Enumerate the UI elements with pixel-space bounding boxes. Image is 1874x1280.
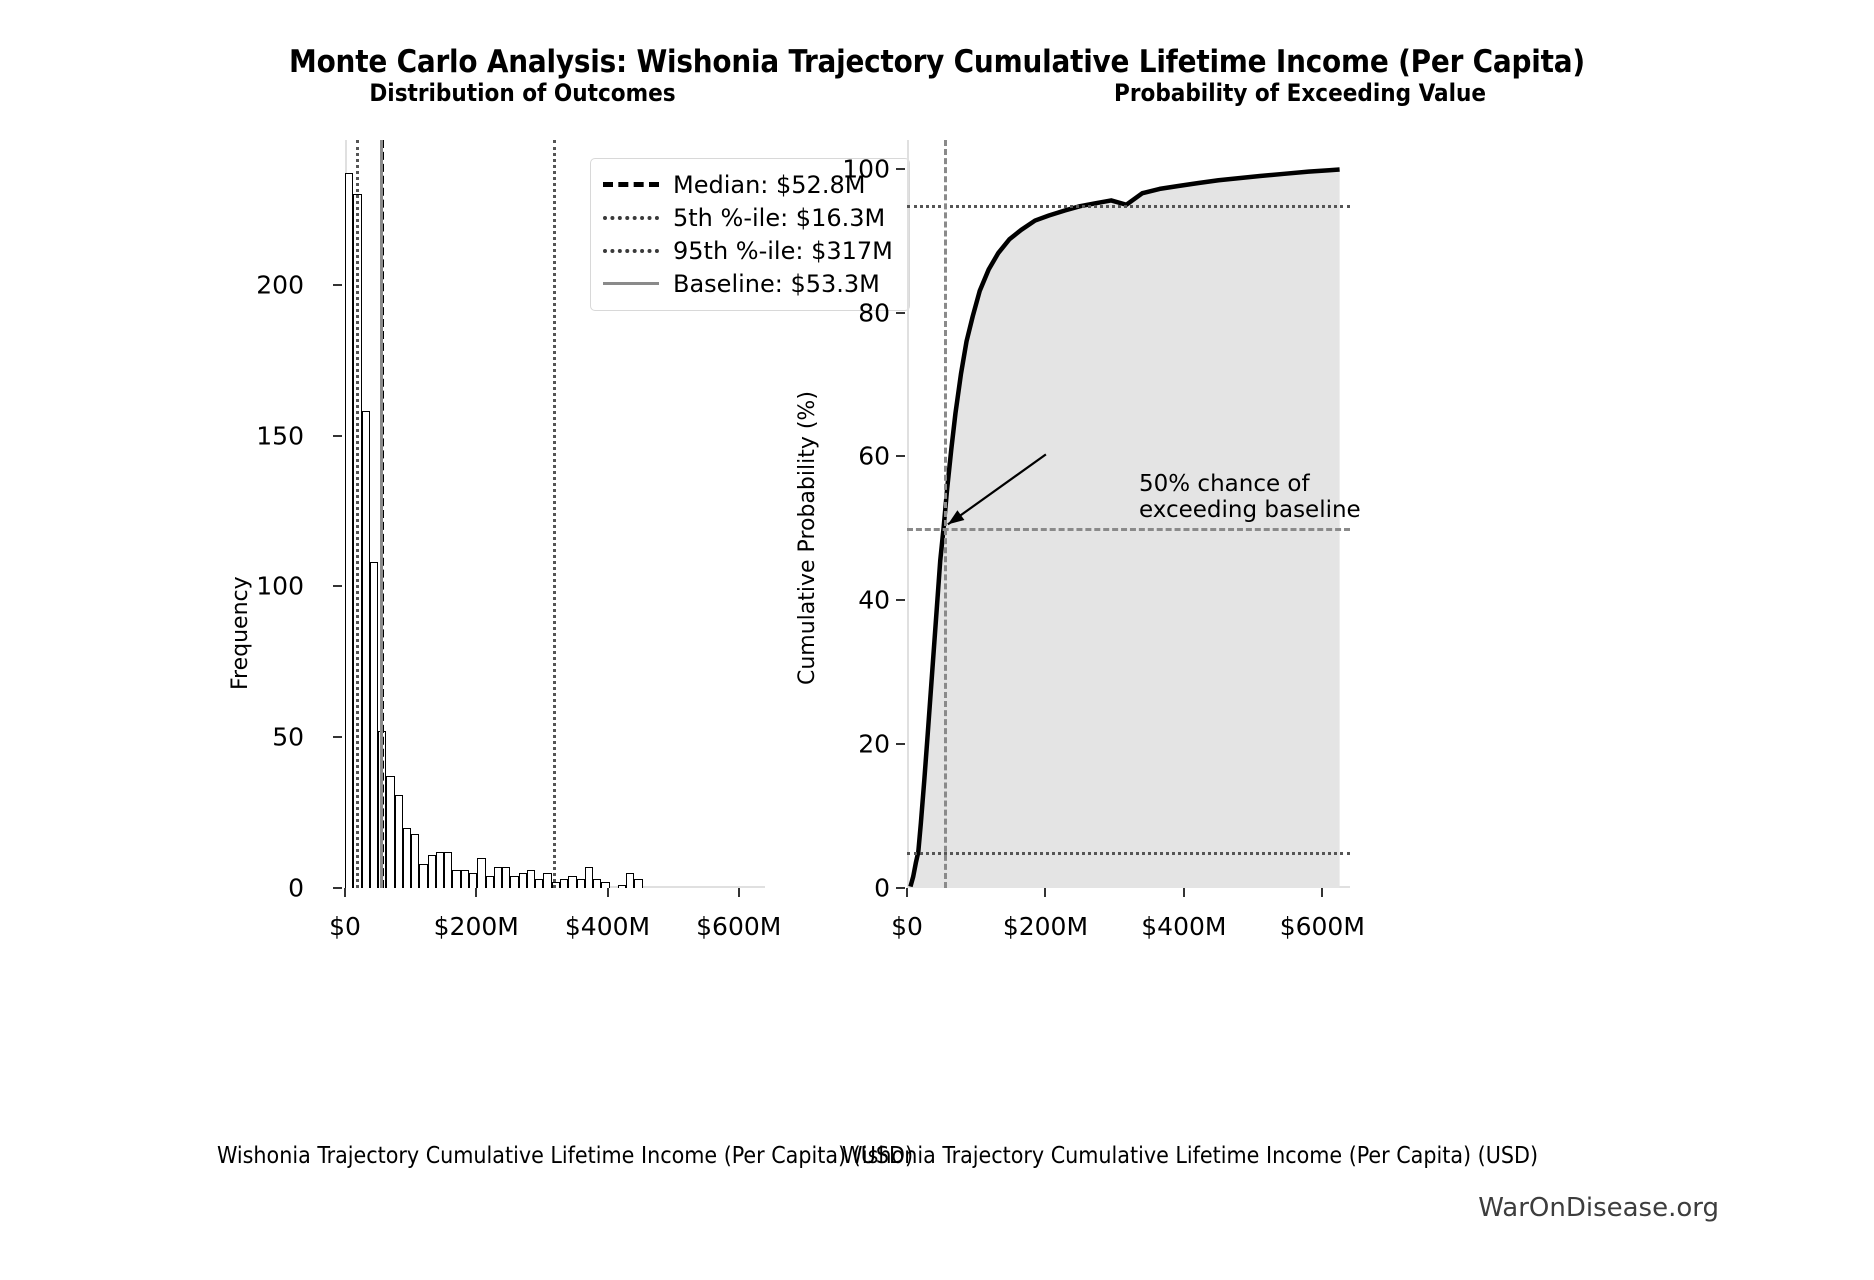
histogram-bar xyxy=(436,852,444,888)
histogram-bar xyxy=(543,873,551,888)
histogram-bar xyxy=(585,867,593,888)
right-y-tickmark xyxy=(896,599,905,601)
left-y-tickmark xyxy=(333,585,342,587)
histogram-bar xyxy=(452,870,460,888)
histogram-bar xyxy=(345,173,353,888)
legend-key-p5-line xyxy=(603,216,659,220)
right-x-tick: $200M xyxy=(1003,912,1088,941)
right-x-tickmark xyxy=(1044,888,1046,897)
histogram-bar xyxy=(428,855,436,888)
left-y-tickmark xyxy=(333,435,342,437)
right-x-tickmark xyxy=(1321,888,1323,897)
right-y-tickmark xyxy=(896,743,905,745)
legend-key-median-line xyxy=(603,182,659,187)
histogram-bar xyxy=(395,795,403,889)
histogram-vline-dotted xyxy=(356,140,359,888)
histogram-bar xyxy=(626,873,634,888)
left-x-tick: $0 xyxy=(329,912,361,941)
histogram-bar xyxy=(577,879,585,888)
legend-label-baseline: Baseline: $53.3M xyxy=(673,270,880,298)
legend-item-p95: 95th %-ile: $317M xyxy=(603,234,897,267)
cdf-hline-dotted xyxy=(907,852,1350,855)
histogram-bar xyxy=(593,879,601,888)
right-chart-title: Probability of Exceeding Value xyxy=(845,79,1755,107)
cdf-baseline-vline xyxy=(944,140,947,888)
histogram-bar xyxy=(403,828,411,888)
left-x-tickmark xyxy=(344,888,346,897)
legend-item-baseline: Baseline: $53.3M xyxy=(603,267,897,300)
footer-attribution: WarOnDisease.org xyxy=(1478,1193,1719,1223)
histogram-bar xyxy=(411,834,419,888)
left-x-tickmark xyxy=(607,888,609,897)
histogram-bar xyxy=(519,873,527,888)
left-y-tick: 0 xyxy=(236,874,304,903)
cdf-annotation-text: 50% chance of exceeding baseline xyxy=(1139,471,1361,523)
right-y-tickmark xyxy=(896,168,905,170)
left-x-tick: $600M xyxy=(696,912,781,941)
right-y-tickmark xyxy=(896,312,905,314)
histogram-bar xyxy=(494,867,502,888)
histogram-bar xyxy=(568,876,576,888)
legend-key-p95-line xyxy=(603,249,659,253)
right-x-tick: $0 xyxy=(891,912,923,941)
right-y-tickmark xyxy=(896,455,905,457)
histogram-bar xyxy=(634,879,642,888)
right-y-axis-label: Cumulative Probability (%) xyxy=(795,391,820,685)
right-y-tick: 40 xyxy=(812,586,890,615)
histogram-bar xyxy=(560,879,568,888)
histogram-bar xyxy=(444,852,452,888)
right-y-tick: 100 xyxy=(812,154,890,183)
right-x-tick: $400M xyxy=(1141,912,1226,941)
histogram-bar xyxy=(386,776,394,888)
right-y-tickmark xyxy=(896,887,905,889)
histogram-bar xyxy=(477,858,485,888)
histogram-bar xyxy=(510,876,518,888)
left-x-tick: $200M xyxy=(434,912,519,941)
right-y-tick: 0 xyxy=(812,874,890,903)
left-y-tick: 50 xyxy=(236,723,304,752)
legend-label-p95: 95th %-ile: $317M xyxy=(673,237,893,265)
histogram-vline-dotted xyxy=(553,140,556,888)
histogram-bar xyxy=(461,870,469,888)
cdf-hline-dotted xyxy=(907,205,1350,208)
histogram-bar xyxy=(419,864,427,888)
histogram-bar xyxy=(370,562,378,888)
histogram-bar xyxy=(469,873,477,888)
left-x-tickmark xyxy=(738,888,740,897)
figure-canvas: Monte Carlo Analysis: Wishonia Trajector… xyxy=(0,0,1874,1280)
right-x-tick: $600M xyxy=(1280,912,1365,941)
left-x-tickmark xyxy=(475,888,477,897)
figure-suptitle: Monte Carlo Analysis: Wishonia Trajector… xyxy=(0,44,1874,80)
right-y-tick: 20 xyxy=(812,730,890,759)
left-y-tickmark xyxy=(333,736,342,738)
histogram-bar xyxy=(362,411,370,888)
right-y-tick: 80 xyxy=(812,298,890,327)
histogram-bar xyxy=(527,870,535,888)
left-chart-title: Distribution of Outcomes xyxy=(280,79,765,107)
histogram-bar xyxy=(502,867,510,888)
legend-item-p5: 5th %-ile: $16.3M xyxy=(603,201,897,234)
left-y-tickmark xyxy=(333,284,342,286)
right-x-axis-label: Wishonia Trajectory Cumulative Lifetime … xyxy=(520,1143,1860,1169)
left-y-tick: 200 xyxy=(236,270,304,299)
right-y-tick: 60 xyxy=(812,442,890,471)
cdf-hline-dashed xyxy=(907,528,1350,531)
left-y-tick: 150 xyxy=(236,421,304,450)
histogram-bar xyxy=(618,885,626,888)
left-x-tick: $400M xyxy=(565,912,650,941)
histogram-bar xyxy=(535,879,543,888)
right-x-tickmark xyxy=(1183,888,1185,897)
legend-key-baseline-line xyxy=(603,282,659,285)
right-x-tickmark xyxy=(906,888,908,897)
legend-label-p5: 5th %-ile: $16.3M xyxy=(673,204,885,232)
histogram-bar xyxy=(486,876,494,888)
left-y-axis-label: Frequency xyxy=(228,576,253,690)
histogram-vline-solid xyxy=(380,140,383,888)
left-y-tickmark xyxy=(333,887,342,889)
